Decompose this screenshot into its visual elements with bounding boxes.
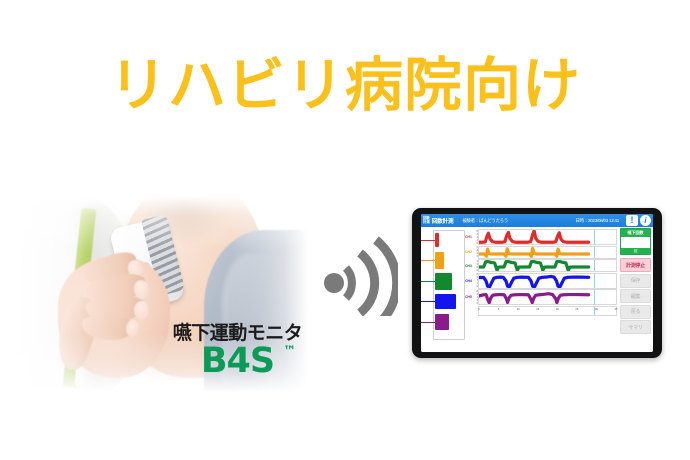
- time-cursor[interactable]: [594, 274, 595, 288]
- swallow-counter: 嚥下回数 回: [620, 228, 651, 255]
- alert-icon[interactable]: !: [626, 215, 638, 226]
- channel-legend: [421, 227, 464, 352]
- product-name-text: B4S: [201, 341, 274, 381]
- chart-plot-ch2[interactable]: [478, 246, 617, 259]
- x-tick-label: 15: [536, 308, 539, 311]
- legend-connector: [421, 260, 435, 261]
- chart-row-ch5: CH586420: [464, 289, 617, 305]
- chart-plot-ch4[interactable]: [478, 273, 617, 289]
- time-cursor[interactable]: [594, 247, 595, 258]
- time-cursor[interactable]: [594, 260, 595, 271]
- page-title: リハビリ病院向け: [0, 52, 690, 119]
- legend-item: [433, 292, 464, 313]
- waveform-charts: CH186420CH26420CH3420-2CH486420CH586420 …: [464, 227, 619, 352]
- trademark-symbol: ™: [283, 345, 296, 358]
- button-保存: 保存: [620, 274, 651, 288]
- x-tick-label: 0: [478, 308, 479, 311]
- legend-connector: [421, 301, 435, 302]
- legend-item: [433, 251, 464, 272]
- swallow-counter-unit: 回: [621, 248, 650, 254]
- button-サマリ: サマリ: [620, 320, 651, 334]
- tablet-device: 回数計測 回数計測 被験者：ばんどうたろう 日時：2023/08/03 12:4…: [412, 208, 662, 358]
- chart-label-ch3: CH3: [464, 259, 473, 272]
- button-計測停止[interactable]: 計測停止: [620, 258, 651, 272]
- x-tick-label: 20: [556, 308, 559, 311]
- product-name: B4S™: [201, 344, 274, 379]
- chart-row-ch1: CH186420: [464, 229, 617, 245]
- x-tick-label: 25: [575, 308, 578, 311]
- chart-label-ch4: CH4: [464, 273, 473, 289]
- info-icon[interactable]: i: [640, 215, 651, 226]
- x-axis: 05101520253035: [464, 306, 617, 316]
- time-cursor[interactable]: [594, 290, 595, 304]
- x-tick-label: 30: [595, 308, 598, 311]
- time-cursor[interactable]: [594, 230, 595, 244]
- button-戻る: 戻る: [620, 305, 651, 319]
- legend-connector: [421, 240, 435, 241]
- chart-plot-ch3[interactable]: [478, 259, 617, 272]
- x-tick-label: 5: [498, 308, 499, 311]
- chart-label-ch1: CH1: [464, 229, 473, 245]
- legend-swatch-ch5: [435, 314, 449, 330]
- chart-row-ch4: CH486420: [464, 273, 617, 289]
- legend-item: [433, 271, 464, 292]
- button-編集: 編集: [620, 289, 651, 303]
- control-panel: 嚥下回数 回 計測停止保存編集戻るサマリ: [619, 227, 653, 352]
- app-mode-indicator: 回数計測: [423, 217, 430, 224]
- chart-plot-ch5[interactable]: [478, 289, 617, 305]
- legend-item: [433, 230, 464, 251]
- swallow-counter-header: 嚥下回数: [621, 229, 650, 237]
- legend-connector: [421, 322, 435, 323]
- legend-swatch-ch1: [435, 233, 439, 247]
- chart-row-ch3: CH3420-2: [464, 259, 617, 272]
- x-tick-label: 35: [615, 308, 618, 311]
- datetime-label: 日時：2023/08/03 12:41: [575, 218, 619, 224]
- swallow-counter-value: [621, 237, 650, 248]
- legend-swatch-ch4: [435, 294, 456, 309]
- product-logo: 嚥下運動モニタ B4S™: [150, 318, 325, 379]
- x-tick-label: 10: [517, 308, 520, 311]
- app-title: 回数計測: [432, 217, 454, 225]
- chart-row-ch2: CH26420: [464, 246, 617, 259]
- legend-swatch-ch3: [435, 273, 452, 290]
- time-cursor[interactable]: [594, 307, 595, 315]
- chart-label-ch2: CH2: [464, 246, 473, 259]
- chart-label-ch5: CH5: [464, 289, 473, 305]
- legend-swatch-ch2: [435, 252, 444, 269]
- legend-connector: [421, 281, 435, 282]
- app-header-bar: 回数計測 回数計測 被験者：ばんどうたろう 日時：2023/08/03 12:4…: [421, 214, 653, 227]
- legend-item: [433, 312, 464, 333]
- tablet-screen: 回数計測 回数計測 被験者：ばんどうたろう 日時：2023/08/03 12:4…: [421, 214, 653, 352]
- subject-label: 被験者：ばんどうたろう: [462, 218, 508, 224]
- chart-plot-ch1[interactable]: [478, 229, 617, 245]
- wifi-signal-icon: [322, 236, 398, 316]
